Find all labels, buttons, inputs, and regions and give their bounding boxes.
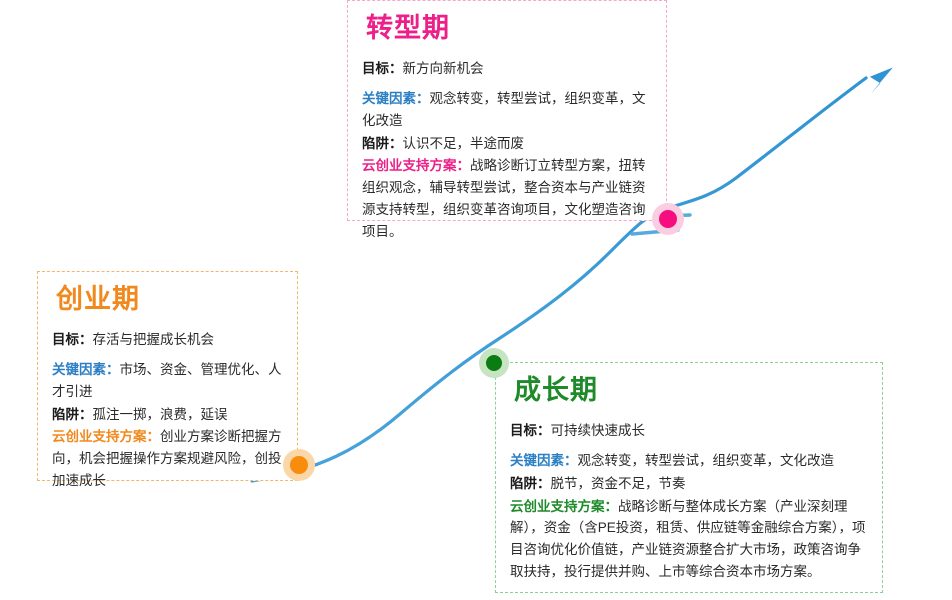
key-factors-label: 关键因素：	[52, 362, 120, 377]
pitfalls-value-growth: 脱节，资金不足，节奏	[551, 476, 686, 491]
goal-label: 目标：	[52, 332, 93, 347]
goal-value-startup: 存活与把握成长机会	[93, 332, 215, 347]
diagram-canvas: 转型期 目标：新方向新机会 关键因素：观念转变，转型尝试，组织变革，文化改造 陷…	[0, 0, 952, 600]
stage-key-factors-row-growth: 关键因素：观念转变，转型尝试，组织变革，文化改造	[510, 450, 868, 472]
stage-title-transform: 转型期	[366, 13, 652, 44]
stage-card-transform: 转型期 目标：新方向新机会 关键因素：观念转变，转型尝试，组织变革，文化改造 陷…	[347, 0, 667, 221]
pitfalls-value-startup: 孤注一掷，浪费，延误	[93, 407, 228, 422]
stage-card-startup: 创业期 目标：存活与把握成长机会 关键因素：市场、资金、管理优化、人才引进 陷阱…	[37, 271, 298, 481]
goal-value-growth: 可持续快速成长	[551, 423, 646, 438]
pitfalls-label: 陷阱：	[510, 476, 551, 491]
curve-arrowhead	[865, 62, 893, 98]
goal-label: 目标：	[510, 423, 551, 438]
stage-goal-row-growth: 目标：可持续快速成长	[510, 420, 868, 442]
stage-marker-startup	[283, 449, 315, 481]
stage-pitfalls-row-growth: 陷阱：脱节，资金不足，节奏	[510, 473, 868, 495]
stage-pitfalls-row-startup: 陷阱：孤注一掷，浪费，延误	[52, 404, 283, 426]
pitfalls-label: 陷阱：	[362, 136, 403, 151]
marker-dot-icon	[290, 456, 308, 474]
stage-support-row-startup: 云创业支持方案：创业方案诊断把握方向，机会把握操作方案规避风险，创投加速成长	[52, 426, 283, 492]
key-factors-label: 关键因素：	[362, 91, 430, 106]
stage-marker-transform	[652, 203, 684, 235]
stage-pitfalls-row-transform: 陷阱：认识不足，半途而废	[362, 133, 652, 155]
support-plan-label: 云创业支持方案：	[510, 499, 618, 514]
stage-key-factors-row-startup: 关键因素：市场、资金、管理优化、人才引进	[52, 359, 283, 403]
stage-title-growth: 成长期	[514, 375, 868, 406]
key-factors-label: 关键因素：	[510, 453, 578, 468]
stage-support-row-transform: 云创业支持方案：战略诊断订立转型方案，扭转组织观念，辅导转型尝试，整合资本与产业…	[362, 155, 652, 242]
support-plan-label: 云创业支持方案：	[362, 158, 470, 173]
stage-key-factors-row-transform: 关键因素：观念转变，转型尝试，组织变革，文化改造	[362, 88, 652, 132]
stage-card-growth: 成长期 目标：可持续快速成长 关键因素：观念转变，转型尝试，组织变革，文化改造 …	[495, 362, 883, 593]
pitfalls-label: 陷阱：	[52, 407, 93, 422]
goal-label: 目标：	[362, 61, 403, 76]
marker-dot-icon	[659, 210, 677, 228]
stage-support-row-growth: 云创业支持方案：战略诊断与整体成长方案（产业深刻理解），资金（含PE投资，租赁、…	[510, 496, 868, 583]
stage-marker-growth	[479, 348, 509, 378]
key-factors-value-growth: 观念转变，转型尝试，组织变革，文化改造	[578, 453, 835, 468]
marker-dot-icon	[486, 355, 502, 371]
goal-value-transform: 新方向新机会	[403, 61, 484, 76]
pitfalls-value-transform: 认识不足，半途而废	[403, 136, 525, 151]
support-plan-label: 云创业支持方案：	[52, 429, 160, 444]
stage-goal-row-startup: 目标：存活与把握成长机会	[52, 329, 283, 351]
stage-goal-row-transform: 目标：新方向新机会	[362, 58, 652, 80]
stage-title-startup: 创业期	[56, 284, 283, 315]
